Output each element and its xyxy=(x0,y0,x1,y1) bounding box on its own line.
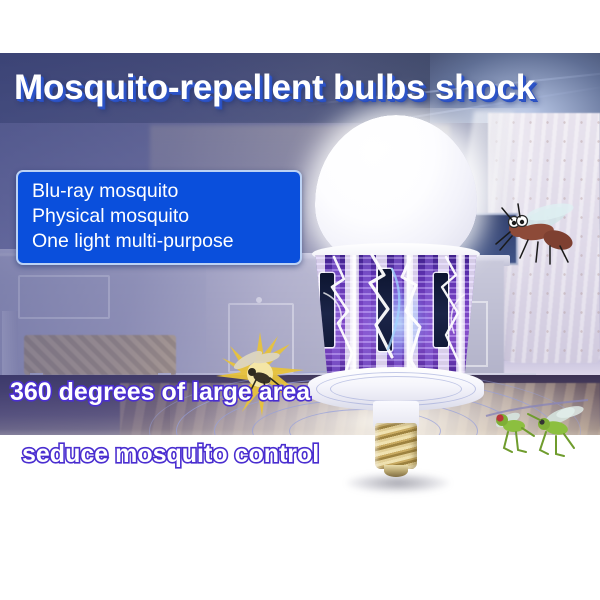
upholstered-bench xyxy=(24,335,176,375)
dresser-panel xyxy=(18,275,110,319)
led-bulb xyxy=(300,115,490,485)
insect-cartoon-pair xyxy=(484,394,590,478)
cabinet-knob xyxy=(256,297,262,303)
dresser-leg xyxy=(2,311,18,385)
lightning-arcs xyxy=(314,253,480,377)
feature-item-1: Blu-ray mosquito xyxy=(32,179,290,204)
page-title: Mosquito-repellent bulbs shock xyxy=(14,68,594,108)
caption-line-1: 360 degrees of large area xyxy=(10,378,310,407)
bulb-drop-shadow xyxy=(346,473,450,493)
bulb-highlight xyxy=(342,127,412,171)
feature-item-3: One light multi-purpose xyxy=(32,229,290,254)
mosquito-cartoon-right xyxy=(492,192,584,270)
e27-screw-base xyxy=(375,423,417,469)
feature-item-2: Physical mosquito xyxy=(32,204,290,229)
caption-line-2: seduce mosquito control xyxy=(22,440,319,469)
product-advertisement: Mosquito-repellent bulbs shock Blu-ray m… xyxy=(0,0,600,600)
feature-box: Blu-ray mosquito Physical mosquito One l… xyxy=(16,170,302,265)
